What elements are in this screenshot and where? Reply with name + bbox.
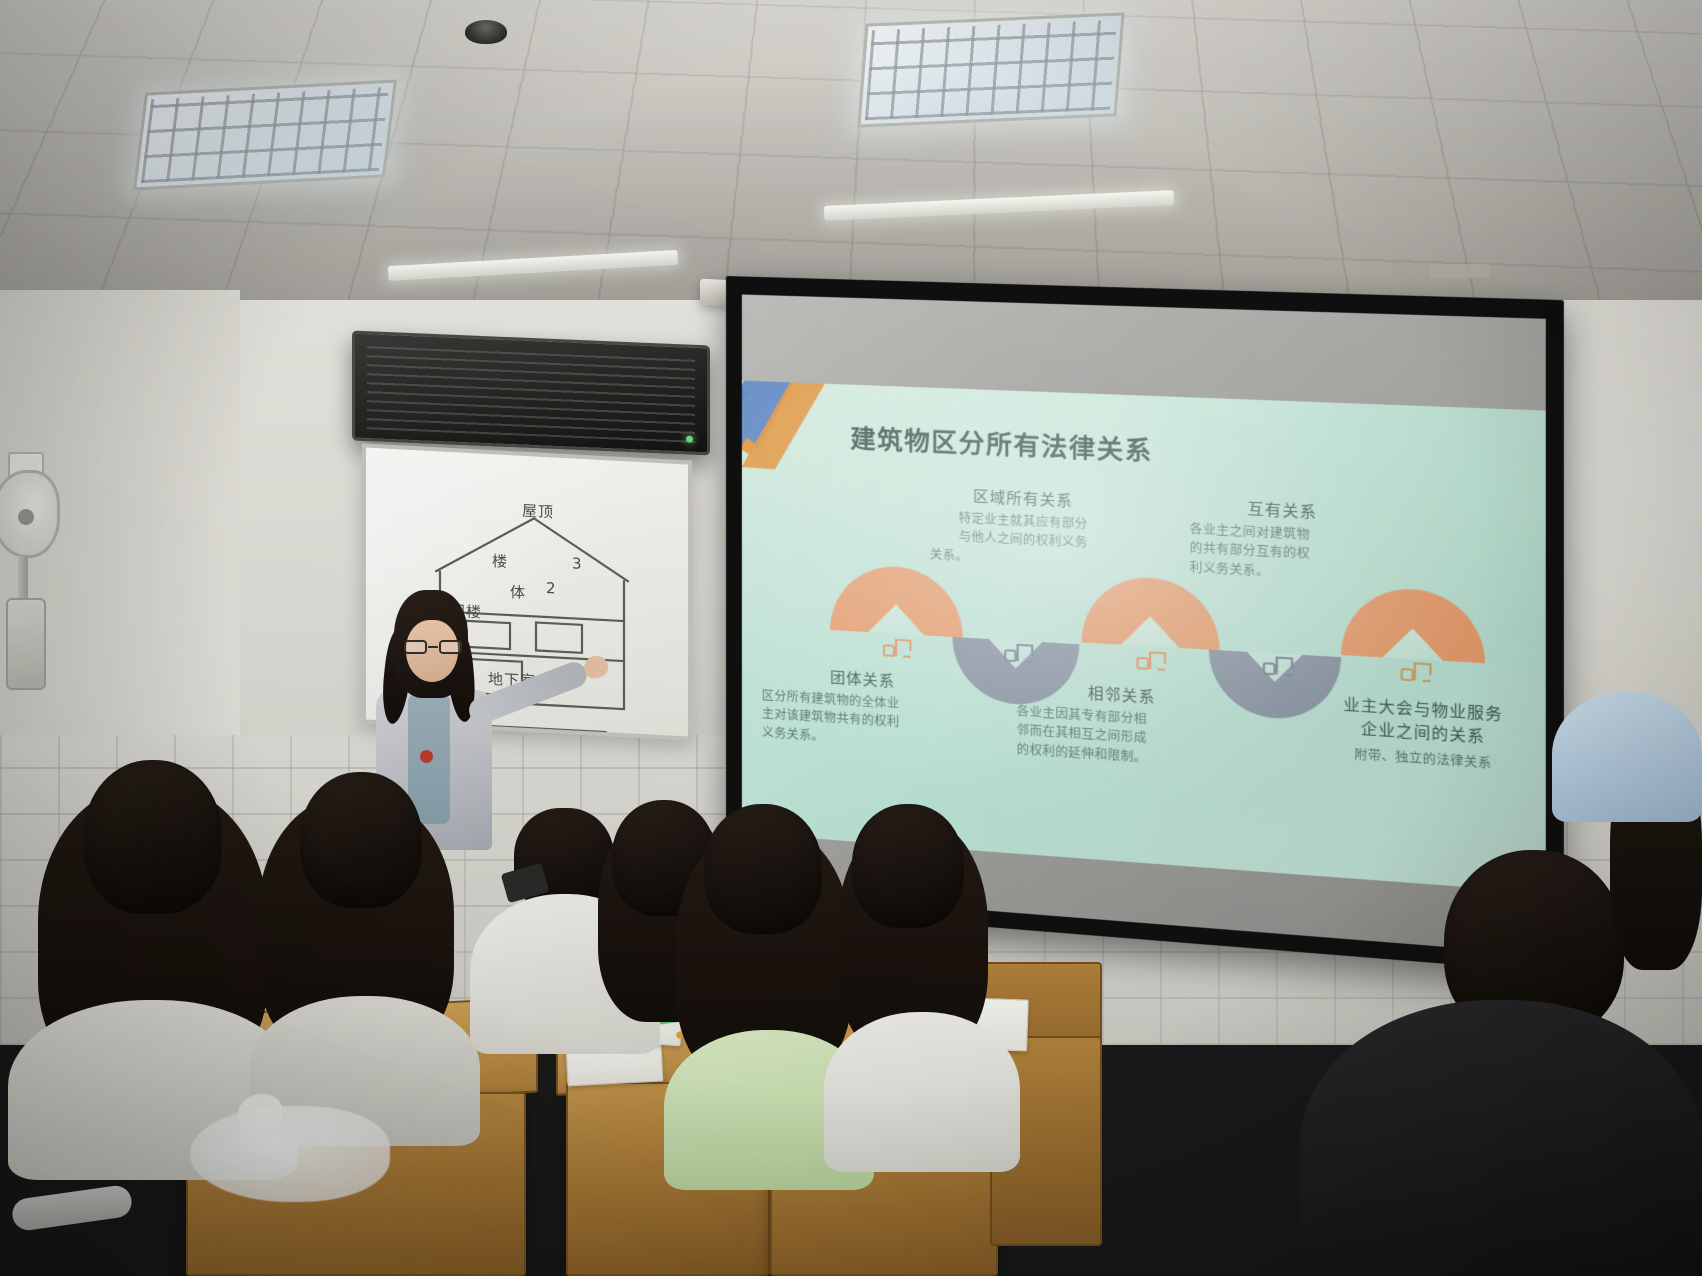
device-node-icon-2 xyxy=(1004,640,1035,666)
student-body xyxy=(1552,692,1702,822)
wb-label-1: 3 xyxy=(572,554,583,573)
smoke-detector-icon xyxy=(465,20,507,44)
block-region-ownership: 区域所有关系 特定业主就其应有部分 与他人之间的权利义务 关系。 xyxy=(920,485,1128,574)
student-head xyxy=(704,804,822,934)
ceiling-light-panel-right xyxy=(857,12,1124,127)
device-node-icon-3 xyxy=(1136,647,1168,674)
ceiling-light-panel-left xyxy=(133,80,397,191)
plastic-bag xyxy=(190,1106,390,1202)
glasses-icon xyxy=(404,640,462,654)
arc-up-3 xyxy=(1341,586,1485,664)
student-head xyxy=(852,804,964,928)
student-body xyxy=(824,1012,1020,1172)
wb-label-2: 楼 xyxy=(492,550,508,572)
classroom-photo: 屋顶 3 楼 2 体 阁楼 地下室 建筑物区分所有法律关系 xyxy=(0,0,1702,1276)
air-conditioner-unit xyxy=(352,330,710,455)
wb-label-0: 屋顶 xyxy=(522,500,554,523)
wall-fan-icon xyxy=(0,470,60,558)
block-body: 各业主之间对建筑物 的共有部分互有的权 利义务关系。 xyxy=(1175,519,1392,588)
arc-up-1 xyxy=(830,563,963,637)
device-node-icon-1 xyxy=(883,635,914,661)
student-head xyxy=(300,772,422,908)
water-bottle xyxy=(10,1184,133,1232)
device-node-icon-5 xyxy=(1400,658,1433,685)
ceiling-vent xyxy=(1430,264,1490,278)
student-body xyxy=(1300,1000,1702,1276)
device-node-icon-4 xyxy=(1263,653,1296,680)
student-head xyxy=(84,760,222,914)
wall-phone-icon xyxy=(6,598,46,690)
arc-up-2 xyxy=(1081,574,1219,650)
foreground-classroom: 大 万事 不 xyxy=(0,700,1702,1276)
block-body: 特定业主就其应有部分 与他人之间的权利义务 关系。 xyxy=(920,507,1128,574)
block-mutual-ownership: 互有关系 各业主之间对建筑物 的共有部分互有的权 利义务关系。 xyxy=(1175,496,1392,588)
slide-title: 建筑物区分所有法律关系 xyxy=(850,419,1152,468)
